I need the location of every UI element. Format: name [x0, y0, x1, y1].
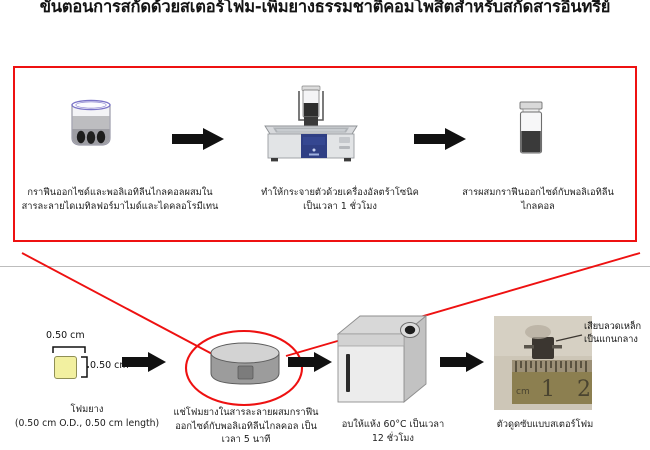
- foam-sorbent-ruler-photo: cm 1 2: [494, 316, 592, 410]
- arrow-right-icon: [440, 352, 484, 372]
- ruler-tick-1: 1: [541, 377, 555, 402]
- ruler-tick-2: 2: [577, 377, 591, 402]
- bottom-step-2-caption-line3: เวลา 5 นาที: [160, 433, 332, 447]
- top-step-3-caption-line2: ไกลคอล: [444, 200, 632, 214]
- top-step-3-caption: สารผสมกราฟีนออกไซด์กับพอลิเอทิลีน ไกลคอล: [444, 186, 632, 213]
- beaker-with-graphene-suspension-icon: [63, 96, 119, 148]
- bottom-step-3-caption: อบให้แห้ง 60°C เป็นเวลา 12 ชั่วโมง: [318, 418, 468, 445]
- bottom-step-3-figure: [330, 312, 434, 412]
- vial-with-black-mixture-icon: [514, 100, 548, 156]
- top-step-2-caption-line2: เป็นเวลา 1 ชั่วโมง: [232, 200, 448, 214]
- bottom-step-2-figure: [206, 342, 284, 392]
- rubber-foam-square-icon: [54, 356, 77, 379]
- top-step-3-caption-line1: สารผสมกราฟีนออกไซด์กับพอลิเอทิลีน: [444, 186, 632, 200]
- drying-oven-icon: [334, 312, 430, 408]
- dimension-bracket-right-icon: [80, 356, 89, 378]
- top-step-1-figure: [52, 96, 130, 158]
- top-step-1-caption-line1: กราฟีนออกไซด์และพอลิเอทิลีนไกลคอลผสมใน: [4, 186, 236, 200]
- top-step-1-caption: กราฟีนออกไซด์และพอลิเอทิลีนไกลคอลผสมใน ส…: [4, 186, 236, 213]
- bottom-step-2-caption: แช่โฟมยางในสารละลายผสมกราฟีน ออกไซด์กับพ…: [160, 406, 332, 447]
- bottom-step-1-caption-line1: โฟมยาง: [0, 403, 182, 417]
- photo-annotation-line1: เสียบลวดเหล็ก: [584, 320, 641, 333]
- photo-annotation-line2: เป็นแกนกลาง: [584, 333, 641, 346]
- dimension-bracket-top-icon: [52, 345, 86, 354]
- arrow-right-icon: [122, 352, 166, 372]
- top-step-2-caption-line1: ทำให้กระจายตัวด้วยเครื่องอัลตร้าโซนิค: [232, 186, 448, 200]
- bottom-step-1-caption: โฟมยาง (0.50 cm O.D., 0.50 cm length): [0, 403, 182, 430]
- ultrasonic-bath-icon: [259, 84, 363, 162]
- bottom-step-3-caption-line1: อบให้แห้ง 60°C เป็นเวลา: [318, 418, 468, 432]
- ruler-tick-cm: cm: [516, 387, 530, 397]
- bottom-step-2-caption-line2: ออกไซด์กับพอลิเอทิลีนไกลคอล เป็น: [160, 420, 332, 434]
- foam-disc-icon: [206, 342, 284, 388]
- top-step-3-figure: [498, 100, 564, 158]
- arrow-right-icon: [288, 352, 332, 372]
- ruler-photo-graphic: cm 1 2: [494, 316, 592, 410]
- photo-annotation: เสียบลวดเหล็ก เป็นแกนกลาง: [584, 320, 641, 346]
- bottom-step-3-caption-line2: 12 ชั่วโมง: [318, 432, 468, 446]
- bottom-step-1-caption-line2: (0.50 cm O.D., 0.50 cm length): [0, 417, 182, 431]
- arrow-right-icon: [172, 128, 224, 150]
- top-step-2-caption: ทำให้กระจายตัวด้วยเครื่องอัลตร้าโซนิค เป…: [232, 186, 448, 213]
- top-step-1-caption-line2: สารละลายไดเมทิลฟอร์มาไมด์และไดคลอโรมีเทน: [4, 200, 236, 214]
- top-step-2-figure: [248, 84, 374, 164]
- bottom-step-2-caption-line1: แช่โฟมยางในสารละลายผสมกราฟีน: [160, 406, 332, 420]
- diagram-canvas: ขั้นตอนการสกัดด้วยสเตอร์โฟม-เพิ่มยางธรรม…: [0, 0, 650, 450]
- bottom-step-4-caption-line1: ตัวดูดซับแบบสเตอร์โฟม: [470, 418, 620, 432]
- arrow-right-icon: [414, 128, 466, 150]
- page-title: ขั้นตอนการสกัดด้วยสเตอร์โฟม-เพิ่มยางธรรม…: [0, 0, 650, 20]
- bottom-step-4-caption: ตัวดูดซับแบบสเตอร์โฟม: [470, 418, 620, 432]
- foam-dimension-top-label: 0.50 cm: [46, 330, 85, 341]
- section-divider: [0, 266, 650, 267]
